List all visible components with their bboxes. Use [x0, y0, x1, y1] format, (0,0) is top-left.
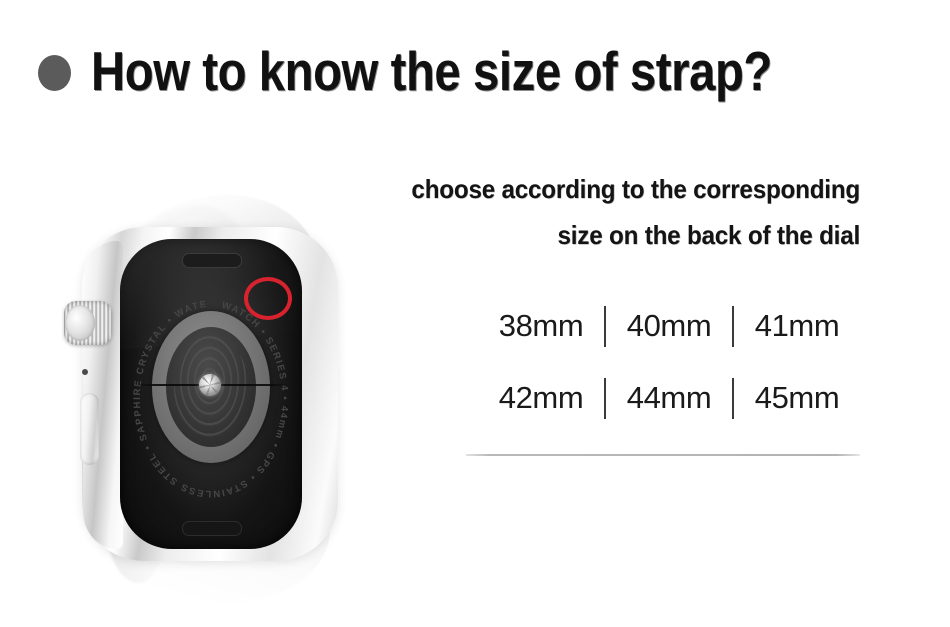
microphone-hole-icon — [82, 369, 88, 375]
header: How to know the size of strap? — [38, 36, 838, 106]
sensor-core-star — [199, 374, 221, 396]
size-row: 42mm 44mm 45mm — [370, 362, 860, 434]
instructions-panel: choose according to the corresponding si… — [370, 166, 860, 456]
side-button-icon — [80, 393, 99, 465]
size-option-45mm[interactable]: 45mm — [734, 380, 860, 416]
page-title: How to know the size of strap? — [91, 42, 772, 100]
size-option-42mm[interactable]: 42mm — [478, 380, 604, 416]
instruction-line-2: size on the back of the dial — [404, 212, 860, 258]
watch-back-illustration: WATCH • SERIES 4 • 44mm • GPS • STAINLES… — [40, 195, 340, 595]
infographic-page: How to know the size of strap? WATC — [0, 0, 950, 627]
size-table: 38mm 40mm 41mm 42mm 44mm 45mm — [370, 290, 860, 456]
digital-crown-face — [65, 305, 95, 341]
size-option-38mm[interactable]: 38mm — [478, 308, 604, 344]
instruction-line-1: choose according to the corresponding — [404, 166, 860, 212]
size-option-40mm[interactable]: 40mm — [606, 308, 732, 344]
red-annotation-circle-icon — [244, 277, 292, 320]
speaker-slot-top — [182, 253, 242, 268]
size-row: 38mm 40mm 41mm — [370, 290, 860, 362]
filled-circle-bullet-icon — [38, 55, 71, 91]
size-table-underline — [466, 454, 860, 456]
size-option-41mm[interactable]: 41mm — [734, 308, 860, 344]
speaker-slot-bottom — [182, 521, 242, 536]
size-option-44mm[interactable]: 44mm — [606, 380, 732, 416]
